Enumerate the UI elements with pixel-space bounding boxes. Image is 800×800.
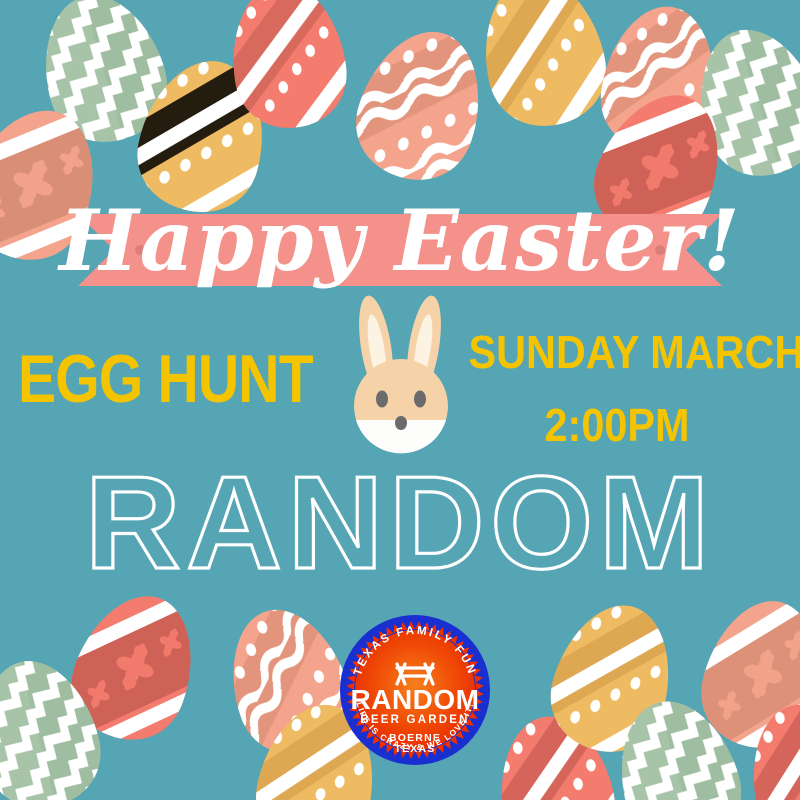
bunny-nose (395, 416, 407, 430)
svg-text:RANDOM: RANDOM (351, 684, 480, 715)
easter-event-poster: Happy Easter! EGG HUNT SUNDAY MARCH 27 2… (0, 0, 800, 800)
bunny-eye-right (414, 391, 426, 408)
svg-text:BEER GARDEN: BEER GARDEN (360, 714, 469, 726)
random-wordmark: RANDOM (0, 468, 800, 588)
svg-text:RANDOM: RANDOM (85, 468, 715, 588)
egg-hunt-headline: EGG HUNT (18, 340, 287, 418)
random-beer-garden-logo[interactable]: TEXAS FAMILY FUN RANDOM BEER GARDEN BOER… (339, 614, 491, 766)
event-date: SUNDAY MARCH 27 (469, 325, 766, 379)
bunny-eye-left (376, 391, 388, 408)
bunny-icon (340, 292, 462, 460)
banner-title: Happy Easter! (0, 176, 800, 306)
event-time: 2:00PM (469, 398, 766, 452)
